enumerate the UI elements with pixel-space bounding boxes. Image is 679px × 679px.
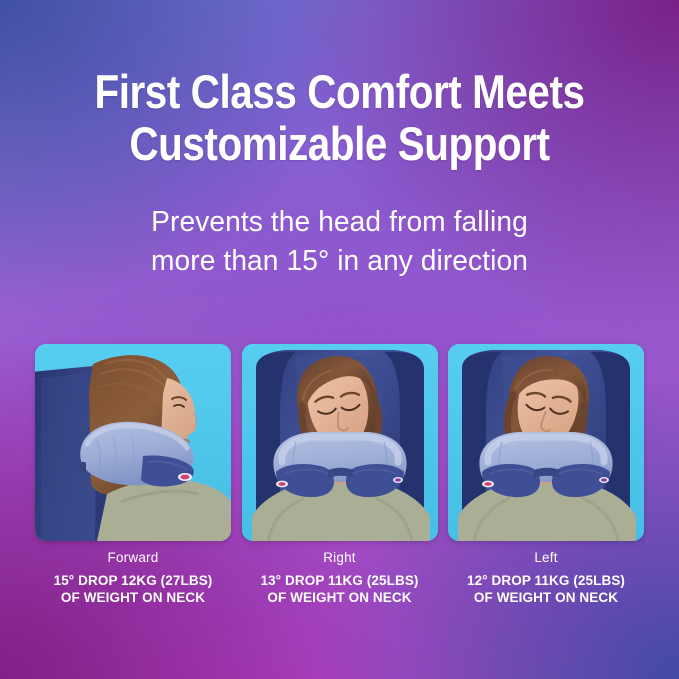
headline-line-2: Customizable Support	[48, 118, 632, 170]
caption-detail-forward-line-2: OF WEIGHT ON NECK	[35, 589, 231, 606]
headline: First Class Comfort Meets Customizable S…	[48, 66, 632, 170]
subheadline-line-2: more than 15° in any direction	[10, 242, 669, 281]
caption-detail-right-line-1: 13° DROP 11KG (25LBS)	[242, 572, 438, 589]
caption-detail-forward: 15° DROP 12KG (27LBS) OF WEIGHT ON NECK	[35, 572, 231, 606]
caption-detail-left-line-2: OF WEIGHT ON NECK	[448, 589, 644, 606]
caption-row: Forward 15° DROP 12KG (27LBS) OF WEIGHT …	[35, 549, 644, 606]
photo-panel-row	[35, 344, 644, 541]
caption-left: Left 12° DROP 11KG (25LBS) OF WEIGHT ON …	[448, 549, 644, 606]
product-photo-forward	[35, 344, 231, 541]
caption-right: Right 13° DROP 11KG (25LBS) OF WEIGHT ON…	[242, 549, 438, 606]
caption-detail-right: 13° DROP 11KG (25LBS) OF WEIGHT ON NECK	[242, 572, 438, 606]
product-feature-poster: First Class Comfort Meets Customizable S…	[0, 0, 679, 679]
headline-line-1: First Class Comfort Meets	[48, 66, 632, 118]
caption-detail-right-line-2: OF WEIGHT ON NECK	[242, 589, 438, 606]
caption-direction-right: Right	[242, 549, 438, 567]
caption-direction-forward: Forward	[35, 549, 231, 567]
product-photo-right	[242, 344, 438, 541]
subheadline: Prevents the head from falling more than…	[10, 203, 669, 281]
photo-panel-right	[242, 344, 438, 541]
subheadline-line-1: Prevents the head from falling	[10, 203, 669, 242]
caption-forward: Forward 15° DROP 12KG (27LBS) OF WEIGHT …	[35, 549, 231, 606]
caption-detail-forward-line-1: 15° DROP 12KG (27LBS)	[35, 572, 231, 589]
caption-direction-left: Left	[448, 549, 644, 567]
caption-detail-left: 12° DROP 11KG (25LBS) OF WEIGHT ON NECK	[448, 572, 644, 606]
photo-panel-left	[448, 344, 644, 541]
caption-detail-left-line-1: 12° DROP 11KG (25LBS)	[448, 572, 644, 589]
photo-panel-forward	[35, 344, 231, 541]
product-photo-left	[448, 344, 644, 541]
